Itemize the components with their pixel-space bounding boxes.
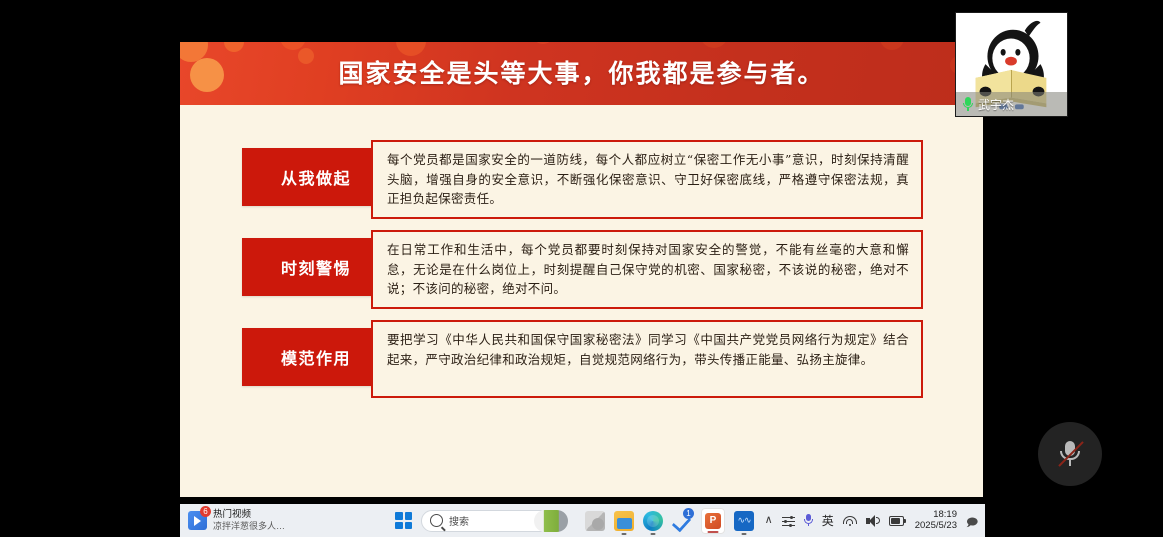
search-input[interactable]: 搜索 — [421, 510, 551, 532]
screen: 国家安全是头等大事，你我都是参与者。 从我做起 每个党员都是国家安全的一道防线，… — [0, 0, 1163, 537]
news-badge: 6 — [200, 506, 211, 517]
blue-app-icon[interactable] — [734, 511, 754, 531]
chevron-up-icon[interactable]: ∧ — [765, 515, 773, 526]
notification-bell-icon[interactable] — [966, 514, 979, 527]
sliders-icon[interactable] — [782, 515, 795, 527]
file-explorer-icon[interactable] — [614, 511, 634, 531]
todo-badge: 1 — [683, 508, 694, 519]
news-video-icon: 6 — [188, 511, 207, 530]
battery-icon[interactable] — [889, 516, 906, 526]
slide-header-banner: 国家安全是头等大事，你我都是参与者。 — [180, 42, 983, 105]
content-row: 模范作用 要把学习《中华人民共和国保守国家秘密法》同学习《中国共产党党员网络行为… — [180, 320, 983, 396]
wifi-icon[interactable] — [843, 515, 857, 526]
clock-time: 18:19 — [915, 510, 957, 521]
clock[interactable]: 18:19 2025/5/23 — [915, 510, 957, 531]
presentation-slide: 国家安全是头等大事，你我都是参与者。 从我做起 每个党员都是国家安全的一道防线，… — [180, 42, 983, 497]
content-row: 从我做起 每个党员都是国家安全的一道防线，每个人都应树立“保密工作无小事”意识，… — [180, 140, 983, 216]
microphone-muted-icon — [1057, 439, 1083, 469]
windows-start-icon[interactable] — [395, 512, 412, 529]
volume-icon[interactable] — [866, 515, 880, 527]
windows-taskbar: 6 热门视频 凉拌洋葱很多人… 搜索 1 — [180, 504, 985, 537]
content-row: 时刻警惕 在日常工作和生活中，每个党员都要时刻保持对国家安全的警觉，不能有丝毫的… — [180, 230, 983, 306]
clock-date: 2025/5/23 — [915, 521, 957, 532]
block-label-3: 模范作用 — [242, 328, 390, 386]
news-subtitle: 凉拌洋葱很多人… — [213, 521, 285, 531]
block-label-1: 从我做起 — [242, 148, 390, 206]
slide-body: 从我做起 每个党员都是国家安全的一道防线，每个人都应树立“保密工作无小事”意识，… — [180, 105, 983, 497]
slide-title: 国家安全是头等大事，你我都是参与者。 — [180, 42, 983, 105]
block-text-1: 每个党员都是国家安全的一道防线，每个人都应树立“保密工作无小事”意识，时刻保持清… — [371, 140, 923, 219]
system-tray: ∧ 英 18:19 2025/5/23 — [765, 510, 985, 531]
search-icon — [430, 514, 443, 527]
mute-microphone-button[interactable] — [1038, 422, 1102, 486]
taskbar-news-widget[interactable]: 6 热门视频 凉拌洋葱很多人… — [180, 510, 385, 531]
news-text: 热门视频 凉拌洋葱很多人… — [213, 510, 285, 531]
search-placeholder: 搜索 — [449, 513, 469, 528]
block-label-2: 时刻警惕 — [242, 238, 390, 296]
widgets-icon[interactable] — [585, 511, 605, 531]
news-title: 热门视频 — [213, 510, 285, 521]
todo-check-icon[interactable]: 1 — [672, 511, 692, 531]
block-text-2: 在日常工作和生活中，每个党员都要时刻保持对国家安全的警觉，不能有丝毫的大意和懈怠… — [371, 230, 923, 309]
microsoft-edge-icon[interactable] — [643, 511, 663, 531]
microphone-icon[interactable] — [804, 514, 813, 527]
powerpoint-icon[interactable] — [701, 508, 725, 534]
taskbar-center: 搜索 1 — [385, 508, 765, 534]
ime-indicator[interactable]: 英 — [822, 512, 834, 529]
participant-name: 武宇杰 — [978, 96, 1014, 113]
block-text-3: 要把学习《中华人民共和国保守国家秘密法》同学习《中国共产党党员网络行为规定》结合… — [371, 320, 923, 398]
search-widget-thumbnail[interactable] — [534, 510, 568, 532]
